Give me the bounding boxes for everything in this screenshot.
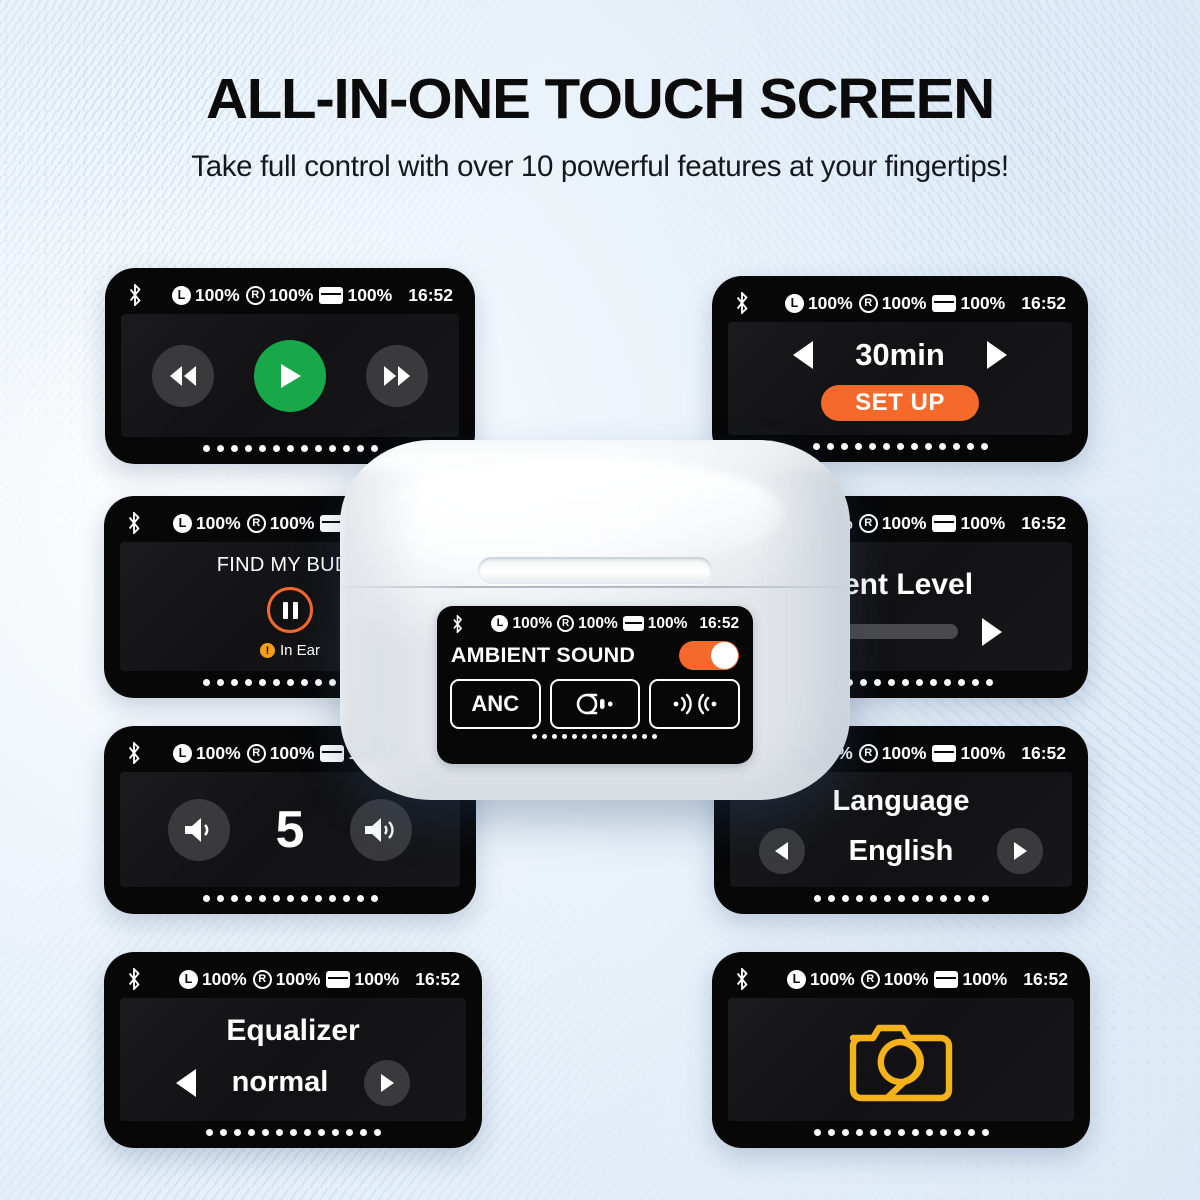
case-battery-icon (326, 971, 350, 988)
ambient-mode-buttons: ANC (449, 679, 741, 729)
fast-forward-icon (380, 364, 414, 388)
media-player-body (121, 314, 459, 437)
right-bud-badge: R (246, 286, 265, 305)
case-left-edge-shadow (340, 469, 422, 764)
triangle-left-icon (773, 841, 791, 861)
left-bud-badge: L (785, 294, 804, 313)
timer-next-button[interactable] (987, 341, 1007, 369)
sleep-timer-body: 30min SET UP (728, 322, 1072, 435)
ambient-sound-header: AMBIENT SOUND (449, 639, 741, 670)
language-next-button[interactable] (997, 828, 1043, 874)
screen-card-media-player[interactable]: L 100% R 100% 100% 16:52 (105, 268, 475, 464)
page-indicator (120, 887, 460, 904)
case-battery-icon (932, 295, 956, 312)
right-bud-badge: R (859, 514, 878, 533)
bluetooth-icon (126, 968, 142, 990)
case-battery-icon (932, 515, 956, 532)
clock: 16:52 (1023, 969, 1068, 990)
play-icon (277, 362, 303, 390)
left-bud-battery: L 100% (172, 285, 240, 306)
ambient-mode-button[interactable] (649, 679, 740, 729)
ambient-level-next-button[interactable] (982, 618, 1002, 646)
page-indicator (728, 1121, 1074, 1138)
case-battery-value: 100% (960, 293, 1005, 314)
bluetooth-icon (127, 284, 143, 306)
right-bud-badge: R (861, 970, 880, 989)
equalizer-prev-button[interactable] (176, 1069, 196, 1097)
case-battery: 100% (319, 285, 392, 306)
equalizer-body: Equalizer normal (120, 998, 466, 1121)
clock: 16:52 (699, 615, 739, 633)
right-bud-battery: R 100% (246, 285, 314, 306)
left-bud-badge: L (172, 286, 191, 305)
clock: 16:52 (415, 969, 460, 990)
case-battery-value: 100% (960, 743, 1005, 764)
triangle-right-icon (378, 1073, 396, 1093)
equalizer-value: normal (232, 1066, 329, 1099)
camera-icon[interactable] (845, 1014, 957, 1106)
left-bud-battery-value: 100% (202, 969, 247, 990)
pause-button[interactable] (267, 587, 313, 633)
case-battery-value: 100% (960, 513, 1005, 534)
fast-forward-button[interactable] (366, 345, 428, 407)
right-bud-badge: R (253, 970, 272, 989)
ambient-waves-icon (671, 692, 719, 716)
bluetooth-icon (451, 615, 464, 633)
right-bud-battery-value: 100% (276, 969, 321, 990)
case-battery-value: 100% (648, 615, 688, 633)
equalizer-stepper: normal (176, 1060, 411, 1106)
bluetooth-icon (126, 742, 142, 764)
left-bud-badge: L (173, 744, 192, 763)
case-battery-value: 100% (354, 969, 399, 990)
in-ear-label: In Ear (280, 642, 320, 659)
anc-mode-button[interactable]: ANC (450, 679, 541, 729)
page-title: ALL-IN-ONE TOUCH SCREEN (0, 70, 1200, 128)
case-lid-seam (340, 586, 850, 588)
timer-prev-button[interactable] (793, 341, 813, 369)
rewind-icon (166, 364, 200, 388)
screen-card-camera[interactable]: L 100% R 100% 100% 16:52 (712, 952, 1090, 1148)
left-bud-badge: L (179, 970, 198, 989)
page-indicator (730, 887, 1072, 904)
clock: 16:52 (408, 285, 453, 306)
clock: 16:52 (1021, 513, 1066, 534)
language-prev-button[interactable] (759, 828, 805, 874)
left-bud-badge: L (787, 970, 806, 989)
right-bud-badge: R (247, 744, 266, 763)
warning-icon: ! (260, 643, 275, 658)
camera-body (728, 998, 1074, 1121)
set-up-button[interactable]: SET UP (821, 385, 979, 421)
equalizer-next-button[interactable] (364, 1060, 410, 1106)
status-bar: L 100% R 100% 100% 16:52 (120, 966, 466, 998)
right-bud-battery-value: 100% (882, 743, 927, 764)
case-battery-icon (623, 616, 644, 631)
pause-icon-bar2 (293, 602, 298, 619)
screen-card-sleep-timer[interactable]: L 100% R 100% 100% 16:52 30min SET UP (712, 276, 1088, 462)
page-subtitle: Take full control with over 10 powerful … (0, 150, 1200, 184)
play-button[interactable] (254, 340, 326, 412)
page-indicator (120, 1121, 466, 1138)
equalizer-title: Equalizer (226, 1014, 359, 1048)
case-hinge-groove (478, 557, 713, 584)
language-stepper: English (759, 828, 1044, 874)
case-right-edge-shadow (758, 469, 850, 771)
language-title: Language (833, 785, 970, 818)
left-bud-battery-value: 100% (196, 743, 241, 764)
timer-value: 30min (855, 337, 945, 373)
left-bud-battery-value: 100% (195, 285, 240, 306)
right-bud-battery-value: 100% (270, 513, 315, 534)
volume-value: 5 (276, 800, 305, 860)
volume-down-icon (182, 815, 216, 845)
volume-controls: 5 (168, 799, 413, 861)
right-bud-battery-value: 100% (578, 615, 618, 633)
ambient-sound-toggle[interactable] (679, 641, 739, 670)
volume-up-icon (363, 815, 399, 845)
status-bar: L 100% R 100% 100% 16:52 (121, 282, 459, 314)
toggle-knob (711, 642, 738, 669)
transparency-icon (574, 692, 616, 716)
page-indicator (449, 729, 741, 739)
media-controls (152, 340, 428, 412)
clock: 16:52 (1021, 743, 1066, 764)
right-bud-battery-value: 100% (270, 743, 315, 764)
right-bud-badge: R (859, 294, 878, 313)
right-bud-battery-value: 100% (882, 513, 927, 534)
transparency-mode-button[interactable] (550, 679, 641, 729)
right-bud-battery-value: 100% (884, 969, 929, 990)
screen-card-equalizer[interactable]: L 100% R 100% 100% 16:52 Equalizer norma… (104, 952, 482, 1148)
case-touch-screen[interactable]: L 100% R 100% 100% 16:52 AMBIENT SOUND A… (437, 606, 753, 764)
status-bar: L 100% R 100% 100% 16:52 (449, 615, 741, 639)
volume-down-button[interactable] (168, 799, 230, 861)
case-battery-value: 100% (962, 969, 1007, 990)
right-bud-battery-value: 100% (269, 285, 314, 306)
pause-icon (283, 602, 288, 619)
case-battery-value: 100% (347, 285, 392, 306)
right-bud-badge: R (247, 514, 266, 533)
ambient-sound-label: AMBIENT SOUND (451, 643, 635, 668)
bluetooth-icon (126, 512, 142, 534)
volume-up-button[interactable] (350, 799, 412, 861)
header: ALL-IN-ONE TOUCH SCREEN Take full contro… (0, 70, 1200, 184)
left-bud-battery-value: 100% (512, 615, 552, 633)
left-bud-battery-value: 100% (808, 293, 853, 314)
bluetooth-icon (734, 968, 750, 990)
right-bud-battery-value: 100% (882, 293, 927, 314)
status-bar: L 100% R 100% 100% 16:52 (728, 966, 1074, 998)
earbuds-charging-case: L 100% R 100% 100% 16:52 AMBIENT SOUND A… (340, 440, 850, 800)
bluetooth-icon (734, 292, 750, 314)
clock: 16:52 (1021, 293, 1066, 314)
left-bud-battery-value: 100% (810, 969, 855, 990)
rewind-button[interactable] (152, 345, 214, 407)
left-bud-badge: L (491, 615, 508, 632)
language-value: English (849, 835, 954, 868)
timer-stepper: 30min (793, 337, 1007, 373)
left-bud-battery-value: 100% (196, 513, 241, 534)
right-bud-badge: R (557, 615, 574, 632)
status-bar: L 100% R 100% 100% 16:52 (728, 290, 1072, 322)
case-battery-icon (319, 287, 343, 304)
left-bud-badge: L (173, 514, 192, 533)
right-bud-badge: R (859, 744, 878, 763)
triangle-right-icon (1011, 841, 1029, 861)
case-battery-icon (934, 971, 958, 988)
case-battery-icon (932, 745, 956, 762)
in-ear-status: ! In Ear (260, 642, 320, 659)
case-lid-highlight (376, 458, 784, 566)
